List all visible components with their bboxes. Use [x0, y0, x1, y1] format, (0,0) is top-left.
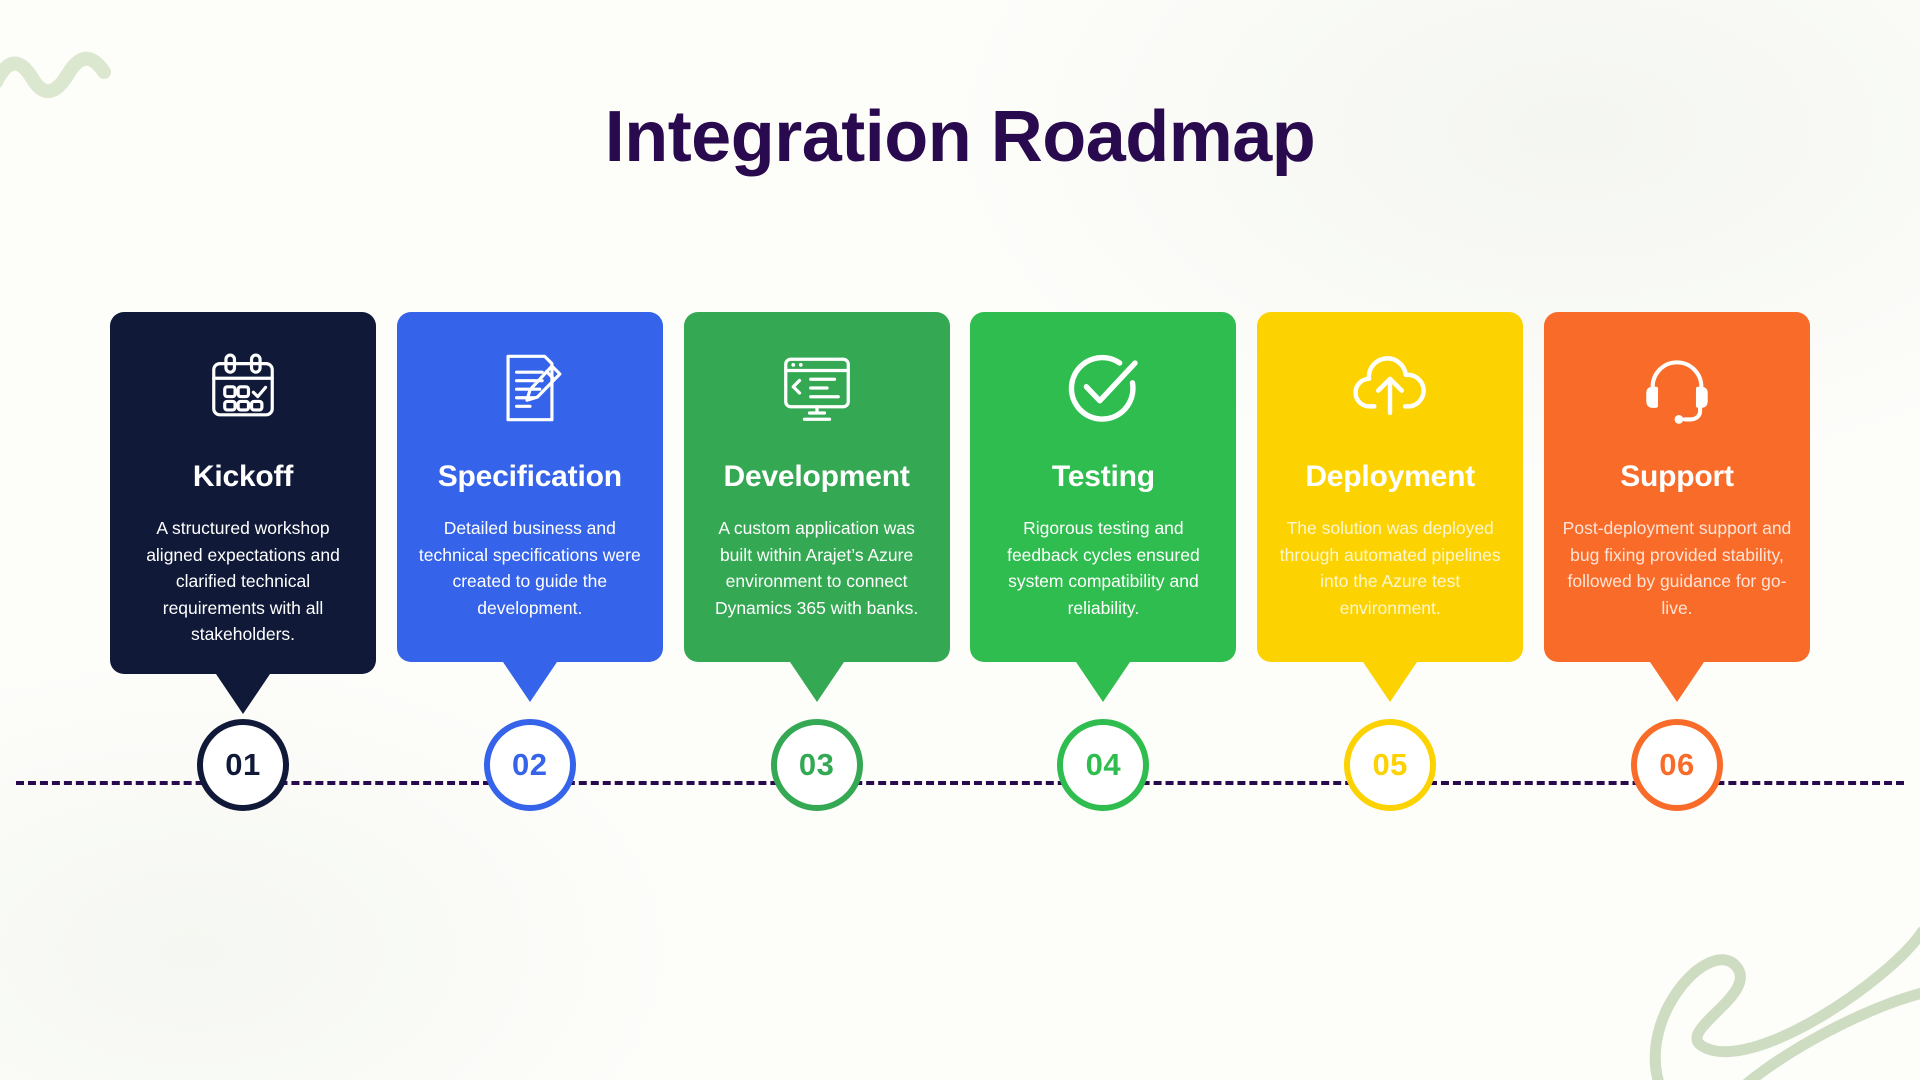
step-description: The solution was deployed through automa… [1275, 515, 1505, 621]
step-description: Detailed business and technical specific… [415, 515, 645, 621]
page-title: Integration Roadmap [0, 96, 1920, 178]
step-number-badge-wrapper: 04 [970, 719, 1236, 811]
step-number-badge[interactable]: 03 [771, 719, 863, 811]
roadmap-slide: Integration Roadmap KickoffA structured … [0, 0, 1920, 1080]
card-pointer [1076, 662, 1130, 702]
step-description: A custom application was built within Ar… [702, 515, 932, 621]
card-pointer [503, 662, 557, 702]
step-number-badge-wrapper: 02 [397, 719, 663, 811]
roadmap-step: SupportPost-deployment support and bug f… [1544, 312, 1810, 714]
scribble-decoration [1640, 870, 1920, 1080]
step-number-badge[interactable]: 06 [1631, 719, 1723, 811]
step-title: Testing [1052, 460, 1155, 493]
step-description: Rigorous testing and feedback cycles ens… [988, 515, 1218, 621]
step-number-badge[interactable]: 02 [484, 719, 576, 811]
step-title: Specification [438, 460, 622, 493]
monitor-code-icon [777, 342, 857, 434]
cloud-upload-icon [1348, 342, 1432, 434]
step-description: Post-deployment support and bug fixing p… [1562, 515, 1792, 621]
step-number-badge-wrapper: 03 [684, 719, 950, 811]
step-description: A structured workshop aligned expectatio… [128, 515, 358, 648]
step-card[interactable]: SupportPost-deployment support and bug f… [1544, 312, 1810, 662]
step-card[interactable]: DevelopmentA custom application was buil… [684, 312, 950, 662]
step-card[interactable]: KickoffA structured workshop aligned exp… [110, 312, 376, 674]
card-pointer [790, 662, 844, 702]
roadmap-step: KickoffA structured workshop aligned exp… [110, 312, 376, 714]
step-number-badge-wrapper: 06 [1544, 719, 1810, 811]
roadmap-steps: KickoffA structured workshop aligned exp… [110, 312, 1810, 714]
step-title: Development [724, 460, 910, 493]
circle-check-icon [1062, 342, 1144, 434]
card-pointer [1650, 662, 1704, 702]
step-title: Kickoff [193, 460, 293, 493]
step-title: Support [1620, 460, 1734, 493]
card-pointer [216, 674, 270, 714]
roadmap-step: DevelopmentA custom application was buil… [684, 312, 950, 714]
roadmap-step: DeploymentThe solution was deployed thro… [1257, 312, 1523, 714]
step-number-badge-wrapper: 01 [110, 719, 376, 811]
step-number-badge-wrapper: 05 [1257, 719, 1523, 811]
calendar-check-icon [204, 342, 282, 434]
step-number-badge[interactable]: 05 [1344, 719, 1436, 811]
step-title: Deployment [1305, 460, 1475, 493]
document-pencil-icon [491, 342, 569, 434]
step-number-badge[interactable]: 01 [197, 719, 289, 811]
step-card[interactable]: SpecificationDetailed business and techn… [397, 312, 663, 662]
step-card[interactable]: TestingRigorous testing and feedback cyc… [970, 312, 1236, 662]
step-card[interactable]: DeploymentThe solution was deployed thro… [1257, 312, 1523, 662]
step-number-badge[interactable]: 04 [1057, 719, 1149, 811]
wave-squiggle-decoration [0, 38, 124, 98]
roadmap-step: TestingRigorous testing and feedback cyc… [970, 312, 1236, 714]
roadmap-step: SpecificationDetailed business and techn… [397, 312, 663, 714]
card-pointer [1363, 662, 1417, 702]
headset-icon [1636, 342, 1718, 434]
